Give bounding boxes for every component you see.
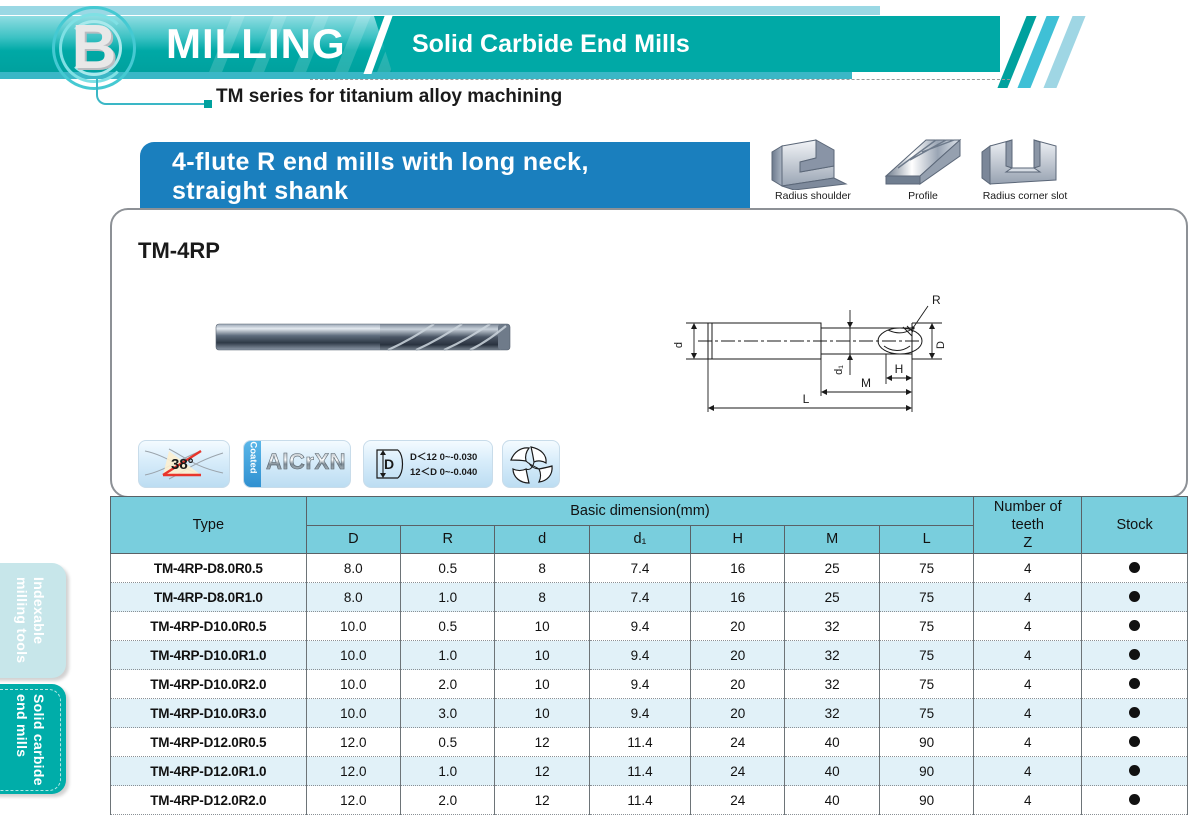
category-label: MILLING: [166, 20, 346, 68]
side-tab-label: Solid carbideend mills: [13, 694, 47, 786]
side-tab-solid-carbide-end-mills[interactable]: Solid carbideend mills: [0, 684, 66, 794]
cell-type: TM-4RP-D12.0R1.0: [111, 757, 307, 786]
dim-label-L: L: [803, 392, 810, 406]
cell-stock: [1082, 612, 1188, 641]
cell-M: 40: [785, 728, 879, 757]
product-title-line2: straight shank: [172, 177, 750, 206]
cell-stock: [1082, 728, 1188, 757]
dim-label-H: H: [895, 362, 904, 376]
cell-D: 8.0: [306, 554, 400, 583]
table-row: TM-4RP-D10.0R0.510.00.5109.42032754: [111, 612, 1188, 641]
cell-H: 24: [691, 786, 785, 815]
stock-available-dot: [1129, 620, 1140, 631]
table-row: TM-4RP-D8.0R1.08.01.087.41625754: [111, 583, 1188, 612]
profile-icon: [870, 132, 976, 190]
cell-stock: [1082, 786, 1188, 815]
cell-D: 12.0: [306, 786, 400, 815]
cell-d: 8: [495, 583, 589, 612]
cell-D: 10.0: [306, 670, 400, 699]
cell-M: 32: [785, 670, 879, 699]
coated-strip: Coated: [244, 441, 261, 488]
stock-available-dot: [1129, 678, 1140, 689]
cell-H: 20: [691, 612, 785, 641]
th-basic-dimension: Basic dimension(mm): [306, 497, 974, 526]
cell-d: 10: [495, 641, 589, 670]
cell-stock: [1082, 757, 1188, 786]
cell-Z: 4: [974, 554, 1082, 583]
cell-stock: [1082, 670, 1188, 699]
cell-L: 90: [879, 786, 973, 815]
application-label: Radius corner slot: [972, 190, 1078, 203]
coated-label: Coated: [248, 440, 259, 481]
cell-type: TM-4RP-D12.0R0.5: [111, 728, 307, 757]
th-teeth-line1: Number of: [994, 499, 1062, 515]
cell-d1: 11.4: [589, 786, 690, 815]
tolerance-line-1: D＜12 0~-0.030: [410, 450, 477, 465]
specification-table: Type Basic dimension(mm) Number of teeth…: [110, 496, 1188, 815]
cell-R: 1.0: [401, 583, 495, 612]
table-row: TM-4RP-D10.0R3.010.03.0109.42032754: [111, 699, 1188, 728]
cell-stock: [1082, 583, 1188, 612]
cell-Z: 4: [974, 583, 1082, 612]
application-profile: Profile: [870, 132, 976, 195]
side-tab-line2: milling tools: [14, 577, 30, 663]
cell-R: 2.0: [401, 670, 495, 699]
radius-shoulder-icon: [760, 132, 866, 190]
table-row: TM-4RP-D12.0R1.012.01.01211.42440904: [111, 757, 1188, 786]
application-radius-corner-slot: Radius corner slot: [972, 132, 1078, 195]
cell-stock: [1082, 554, 1188, 583]
stock-available-dot: [1129, 794, 1140, 805]
table-row: TM-4RP-D8.0R0.58.00.587.41625754: [111, 554, 1188, 583]
cell-R: 0.5: [401, 554, 495, 583]
cell-D: 8.0: [306, 583, 400, 612]
header-connector-dot: [204, 100, 212, 108]
catalog-page: MILLING Solid Carbide End Mills B TM ser…: [0, 0, 1188, 821]
cell-L: 75: [879, 554, 973, 583]
product-photo: [212, 315, 532, 359]
cell-R: 1.0: [401, 757, 495, 786]
tolerance-symbol: D: [384, 456, 394, 472]
radius-corner-slot-icon: [972, 132, 1078, 190]
th-teeth-line3: Z: [1023, 535, 1032, 551]
side-tab-line2: end mills: [14, 694, 30, 757]
cell-R: 2.0: [401, 786, 495, 815]
dim-label-D: D: [935, 341, 947, 349]
cell-L: 75: [879, 583, 973, 612]
cell-R: 0.5: [401, 728, 495, 757]
four-flute-cross-section-icon: [503, 441, 559, 487]
side-tab-line1: Indexable: [31, 577, 47, 644]
cell-d: 12: [495, 786, 589, 815]
cell-d: 10: [495, 670, 589, 699]
th-teeth: Number of teeth Z: [974, 497, 1082, 554]
cell-D: 10.0: [306, 641, 400, 670]
th-dim-H: H: [691, 525, 785, 554]
th-dim-L: L: [879, 525, 973, 554]
cell-type: TM-4RP-D10.0R0.5: [111, 612, 307, 641]
cell-stock: [1082, 641, 1188, 670]
table-row: TM-4RP-D12.0R0.512.00.51211.42440904: [111, 728, 1188, 757]
chapter-letter: B: [52, 6, 136, 90]
side-tab-label: Indexablemilling tools: [13, 577, 47, 663]
cell-d1: 7.4: [589, 554, 690, 583]
application-icons: Radius shoulder Profile: [760, 132, 1080, 210]
cell-M: 32: [785, 699, 879, 728]
th-dim-R: R: [401, 525, 495, 554]
cell-type: TM-4RP-D8.0R0.5: [111, 554, 307, 583]
diameter-tolerance-icon: D: [368, 441, 410, 487]
cell-d: 8: [495, 554, 589, 583]
cell-R: 1.0: [401, 641, 495, 670]
cell-H: 20: [691, 670, 785, 699]
cell-H: 24: [691, 757, 785, 786]
stock-available-dot: [1129, 591, 1140, 602]
th-teeth-line2: teeth: [1012, 517, 1044, 533]
dim-label-M: M: [861, 376, 871, 390]
cell-L: 75: [879, 612, 973, 641]
table-row: TM-4RP-D12.0R2.012.02.01211.42440904: [111, 786, 1188, 815]
cell-Z: 4: [974, 699, 1082, 728]
cell-stock: [1082, 699, 1188, 728]
stock-available-dot: [1129, 765, 1140, 776]
tolerance-line-2: 12＜D 0~-0.040: [410, 465, 477, 480]
cell-d1: 11.4: [589, 728, 690, 757]
dimension-drawing: d d₁ D R H: [660, 280, 1060, 420]
table-row: TM-4RP-D10.0R1.010.01.0109.42032754: [111, 641, 1188, 670]
application-radius-shoulder: Radius shoulder: [760, 132, 866, 195]
cell-d: 10: [495, 699, 589, 728]
chapter-logo: B: [52, 6, 136, 90]
th-type: Type: [111, 497, 307, 554]
cell-Z: 4: [974, 670, 1082, 699]
cell-R: 3.0: [401, 699, 495, 728]
tolerance-badge: D D＜12 0~-0.030 12＜D 0~-0.040: [363, 440, 493, 488]
cell-M: 32: [785, 612, 879, 641]
th-stock: Stock: [1082, 497, 1188, 554]
product-title-line1: 4-flute R end mills with long neck,: [172, 148, 750, 177]
application-label: Radius shoulder: [760, 190, 866, 203]
table-header-row-1: Type Basic dimension(mm) Number of teeth…: [111, 497, 1188, 526]
series-note: TM series for titanium alloy machining: [216, 86, 562, 108]
cell-M: 32: [785, 641, 879, 670]
cell-d1: 9.4: [589, 670, 690, 699]
cell-type: TM-4RP-D8.0R1.0: [111, 583, 307, 612]
cell-type: TM-4RP-D10.0R2.0: [111, 670, 307, 699]
stock-available-dot: [1129, 707, 1140, 718]
table-body: TM-4RP-D8.0R0.58.00.587.41625754TM-4RP-D…: [111, 554, 1188, 815]
th-dim-D: D: [306, 525, 400, 554]
side-tab-indexable-milling-tools[interactable]: Indexablemilling tools: [0, 563, 66, 678]
application-label: Profile: [870, 190, 976, 203]
header-connector-line: [96, 79, 206, 105]
th-dim-d: d: [495, 525, 589, 554]
th-dim-M: M: [785, 525, 879, 554]
cell-M: 40: [785, 786, 879, 815]
stock-available-dot: [1129, 562, 1140, 573]
cell-L: 75: [879, 641, 973, 670]
cell-L: 75: [879, 699, 973, 728]
helix-angle-value: 38°: [171, 456, 194, 473]
cell-d1: 9.4: [589, 699, 690, 728]
cell-D: 12.0: [306, 757, 400, 786]
cell-type: TM-4RP-D12.0R2.0: [111, 786, 307, 815]
cell-D: 10.0: [306, 612, 400, 641]
cell-H: 20: [691, 641, 785, 670]
banner-subtitle: Solid Carbide End Mills: [412, 28, 690, 60]
cell-Z: 4: [974, 612, 1082, 641]
cell-H: 16: [691, 583, 785, 612]
cell-H: 24: [691, 728, 785, 757]
tolerance-values: D＜12 0~-0.030 12＜D 0~-0.040: [410, 450, 477, 480]
cell-L: 90: [879, 728, 973, 757]
product-code: TM-4RP: [138, 238, 220, 264]
header-dashed-rule: [310, 79, 1010, 80]
helix-angle-badge: 38°: [138, 440, 230, 488]
th-dim-d1: d₁: [589, 525, 690, 554]
cell-d: 10: [495, 612, 589, 641]
cell-Z: 4: [974, 728, 1082, 757]
cell-D: 10.0: [306, 699, 400, 728]
cell-d: 12: [495, 757, 589, 786]
cell-D: 12.0: [306, 728, 400, 757]
cell-Z: 4: [974, 786, 1082, 815]
cell-d1: 9.4: [589, 641, 690, 670]
cell-M: 25: [785, 583, 879, 612]
cell-Z: 4: [974, 757, 1082, 786]
flute-count-badge: [502, 440, 560, 488]
cell-H: 16: [691, 554, 785, 583]
side-tab-line1: Solid carbide: [31, 694, 47, 786]
table-row: TM-4RP-D10.0R2.010.02.0109.42032754: [111, 670, 1188, 699]
cell-M: 25: [785, 554, 879, 583]
cell-type: TM-4RP-D10.0R3.0: [111, 699, 307, 728]
cell-d1: 7.4: [589, 583, 690, 612]
cell-L: 90: [879, 757, 973, 786]
coating-badge: Coated AlCrXN: [243, 440, 351, 488]
cell-type: TM-4RP-D10.0R1.0: [111, 641, 307, 670]
cell-H: 20: [691, 699, 785, 728]
coating-name: AlCrXN: [266, 449, 346, 475]
helix-angle-icon: 38°: [139, 441, 229, 487]
stock-available-dot: [1129, 736, 1140, 747]
dim-label-d: d: [673, 342, 685, 348]
dim-label-R: R: [932, 293, 941, 307]
cell-M: 40: [785, 757, 879, 786]
cell-d: 12: [495, 728, 589, 757]
cell-R: 0.5: [401, 612, 495, 641]
stock-available-dot: [1129, 649, 1140, 660]
cell-Z: 4: [974, 641, 1082, 670]
cell-d1: 9.4: [589, 612, 690, 641]
product-title-bar: 4-flute R end mills with long neck, stra…: [140, 142, 750, 208]
cell-L: 75: [879, 670, 973, 699]
cell-d1: 11.4: [589, 757, 690, 786]
dim-label-d1: d₁: [833, 365, 845, 375]
